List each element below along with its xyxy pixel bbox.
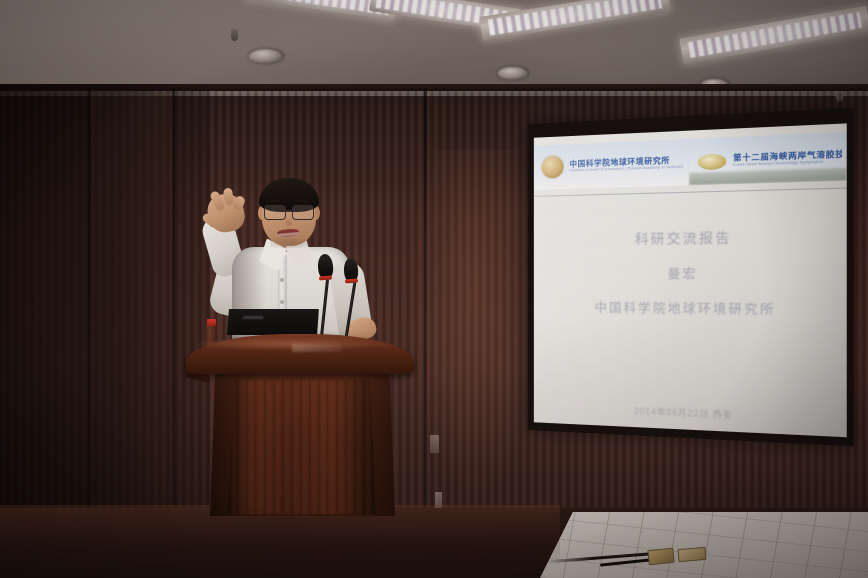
eyeglass-lens-left xyxy=(264,205,286,220)
slide-divider-rule xyxy=(534,187,847,196)
slide-date-location: 2014年05月22日 西安 xyxy=(534,401,847,426)
podium-shading xyxy=(210,368,395,516)
slide-banner-right: 第十二届海峡两岸气溶胶技术研讨会 Cross-Strait Aerosol Te… xyxy=(688,132,846,185)
slide-footer: 2014年05月22日 西安 xyxy=(534,401,847,426)
slide-banner-left: 中国科学院地球环境研究所 Institute of Earth Environm… xyxy=(534,139,688,190)
downlight-icon-2 xyxy=(497,66,529,80)
chin-shadow xyxy=(270,238,308,248)
projection-screen-frame: 中国科学院地球环境研究所 Institute of Earth Environm… xyxy=(528,108,854,447)
microphone-indicator-ring-2 xyxy=(345,279,358,284)
wall-shadow-left xyxy=(0,84,210,520)
water-bottle-cap xyxy=(207,319,216,326)
wall-plate-icon xyxy=(430,435,439,453)
floor-tile-grout-lines xyxy=(540,512,868,578)
banner-left-text: 中国科学院地球环境研究所 Institute of Earth Environm… xyxy=(563,155,688,174)
conference-emblem-icon xyxy=(698,153,727,170)
conference-presentation-photo: 中国科学院地球环境研究所 Institute of Earth Environm… xyxy=(0,0,868,578)
podium-emblem xyxy=(292,344,342,352)
slide-title: 科研交流报告 xyxy=(534,225,847,249)
slide-affiliation: 中国科学院地球环境研究所 xyxy=(534,298,847,319)
eyeglass-lens-right xyxy=(292,205,314,220)
eyeglass-bridge xyxy=(284,210,293,212)
institute-seal-icon xyxy=(542,156,564,179)
shirt-button-1 xyxy=(280,278,284,282)
laptop-screen-glint xyxy=(243,316,263,319)
banner-photo-strip xyxy=(689,168,846,186)
floor-outlet-box-1 xyxy=(647,548,674,566)
banner-right-text: 第十二届海峡两岸气溶胶技术研讨会 Cross-Strait Aerosol Te… xyxy=(727,149,847,169)
laptop-icon xyxy=(227,309,319,335)
slide-body: 科研交流报告 曼宏 中国科学院地球环境研究所 xyxy=(534,225,847,319)
nose xyxy=(285,216,292,226)
projection-screen-surface: 中国科学院地球环境研究所 Institute of Earth Environm… xyxy=(534,123,847,437)
shirt-button-2 xyxy=(280,300,284,304)
slide-author: 曼宏 xyxy=(534,264,847,283)
floor-outlet-box-2 xyxy=(677,547,706,562)
sprinkler-icon-1 xyxy=(231,29,238,41)
downlight-icon-1 xyxy=(248,48,284,64)
slide-header-banners: 中国科学院地球环境研究所 Institute of Earth Environm… xyxy=(534,132,847,190)
